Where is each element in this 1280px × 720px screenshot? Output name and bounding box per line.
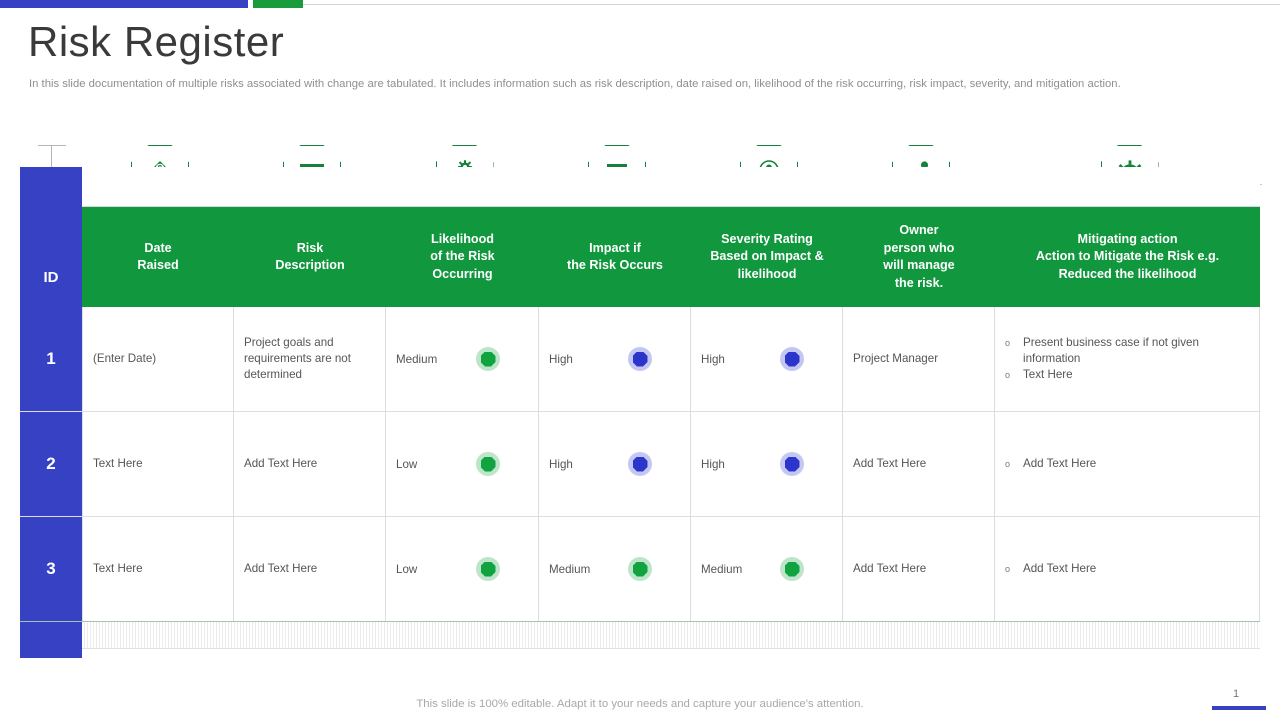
cell-severity: Medium bbox=[691, 517, 843, 621]
cell-date: Text Here bbox=[82, 412, 234, 516]
column-header-label: Impact ifthe Risk Occurs bbox=[567, 240, 663, 275]
cell-risk: Project goals and requirements are not d… bbox=[234, 307, 386, 411]
rating-label: High bbox=[701, 458, 725, 471]
table-header-row: ID DateRaisedRiskDescriptionLikelihoodof… bbox=[20, 207, 1260, 307]
rating-indicator-dot bbox=[633, 562, 648, 577]
mitigation-bullet-item: oPresent business case if not given info… bbox=[1005, 335, 1249, 367]
cell-owner: Add Text Here bbox=[843, 412, 995, 516]
column-header-risk: RiskDescription bbox=[234, 207, 386, 307]
column-header-label: Mitigating actionAction to Mitigate the … bbox=[1036, 231, 1219, 284]
accent-bar-rule bbox=[303, 4, 1280, 5]
cell-text: Add Text Here bbox=[244, 456, 317, 472]
rating-indicator-green bbox=[476, 452, 500, 476]
slide-footnote: This slide is 100% editable. Adapt it to… bbox=[0, 698, 1280, 710]
cell-text: Add Text Here bbox=[853, 561, 926, 577]
rating-indicator-blue bbox=[628, 347, 652, 371]
cell-likelihood: Low bbox=[386, 412, 539, 516]
rating-indicator-dot bbox=[785, 352, 800, 367]
cell-mitigation: oPresent business case if not given info… bbox=[995, 307, 1260, 411]
rating-indicator-green bbox=[476, 557, 500, 581]
column-header-label: Ownerperson whowill managethe risk. bbox=[883, 222, 954, 292]
top-accent-bars bbox=[0, 0, 1280, 9]
cell-owner: Project Manager bbox=[843, 307, 995, 411]
mitigation-bullet-list: oPresent business case if not given info… bbox=[1005, 335, 1249, 384]
rating-indicator-blue bbox=[628, 452, 652, 476]
rating-label: Medium bbox=[701, 563, 742, 576]
mitigation-bullet-item: oAdd Text Here bbox=[1005, 561, 1249, 578]
cell-likelihood: Medium bbox=[386, 307, 539, 411]
cell-impact: High bbox=[539, 412, 691, 516]
cell-owner: Add Text Here bbox=[843, 517, 995, 621]
column-header-label: RiskDescription bbox=[275, 240, 344, 275]
column-header-severity: Severity RatingBased on Impact &likeliho… bbox=[691, 207, 843, 307]
column-header-impact: Impact ifthe Risk Occurs bbox=[539, 207, 691, 307]
bullet-marker-icon: o bbox=[1005, 456, 1023, 473]
rating-indicator-green bbox=[780, 557, 804, 581]
rating-label: Medium bbox=[549, 563, 590, 576]
column-header-label: DateRaised bbox=[137, 240, 178, 275]
cell-text: Text Here bbox=[93, 456, 143, 472]
column-header-label: Likelihoodof the RiskOccurring bbox=[430, 231, 494, 284]
rating-indicator-green bbox=[628, 557, 652, 581]
id-column-tick bbox=[38, 145, 66, 167]
page-number-rule bbox=[1212, 706, 1266, 710]
bullet-marker-icon: o bbox=[1005, 561, 1023, 578]
rating-indicator-dot bbox=[481, 457, 496, 472]
row-id-cell: 3 bbox=[20, 517, 82, 621]
cell-likelihood: Low bbox=[386, 517, 539, 621]
cell-text: Project Manager bbox=[853, 351, 938, 367]
cell-risk: Add Text Here bbox=[234, 412, 386, 516]
bullet-text: Text Here bbox=[1023, 367, 1249, 384]
rating-label: High bbox=[549, 353, 573, 366]
table-row: 3Text HereAdd Text HereLowMediumMediumAd… bbox=[20, 517, 1260, 622]
row-id-cell: 2 bbox=[20, 412, 82, 516]
hatched-footer-band bbox=[82, 622, 1260, 649]
mitigation-bullet-item: oText Here bbox=[1005, 367, 1249, 384]
cell-severity: High bbox=[691, 412, 843, 516]
bullet-marker-icon: o bbox=[1005, 367, 1023, 384]
cell-risk: Add Text Here bbox=[234, 517, 386, 621]
bullet-text: Present business case if not given infor… bbox=[1023, 335, 1249, 367]
column-header-owner: Ownerperson whowill managethe risk. bbox=[843, 207, 995, 307]
rating-indicator-dot bbox=[633, 352, 648, 367]
bullet-text: Add Text Here bbox=[1023, 456, 1249, 473]
table-row: 2Text HereAdd Text HereLowHighHighAdd Te… bbox=[20, 412, 1260, 517]
bullet-text: Add Text Here bbox=[1023, 561, 1249, 578]
rating-indicator-blue bbox=[780, 452, 804, 476]
cell-impact: High bbox=[539, 307, 691, 411]
mitigation-bullet-item: oAdd Text Here bbox=[1005, 456, 1249, 473]
rating-indicator-blue bbox=[780, 347, 804, 371]
cell-mitigation: oAdd Text Here bbox=[995, 412, 1260, 516]
cell-text: Project goals and requirements are not d… bbox=[244, 335, 375, 383]
rating-label: Low bbox=[396, 458, 417, 471]
cell-text: Add Text Here bbox=[853, 456, 926, 472]
cell-date: (Enter Date) bbox=[82, 307, 234, 411]
rating-label: Low bbox=[396, 563, 417, 576]
bullet-marker-icon: o bbox=[1005, 335, 1023, 367]
rating-indicator-dot bbox=[481, 352, 496, 367]
cell-severity: High bbox=[691, 307, 843, 411]
rating-indicator-dot bbox=[633, 457, 648, 472]
page-title: Risk Register bbox=[28, 16, 284, 68]
prehead-spacer bbox=[82, 167, 1260, 206]
table-footer-row bbox=[20, 622, 1260, 658]
column-header-mitigation: Mitigating actionAction to Mitigate the … bbox=[995, 207, 1260, 307]
cell-text: Text Here bbox=[93, 561, 143, 577]
table-prehead-row bbox=[20, 167, 1260, 207]
table-row: 1(Enter Date)Project goals and requireme… bbox=[20, 307, 1260, 412]
mitigation-bullet-list: oAdd Text Here bbox=[1005, 561, 1249, 578]
accent-bar-green bbox=[253, 0, 303, 8]
rating-label: High bbox=[549, 458, 573, 471]
rating-indicator-green bbox=[476, 347, 500, 371]
page-number: 1 bbox=[1216, 688, 1256, 700]
rating-indicator-dot bbox=[785, 562, 800, 577]
cell-date: Text Here bbox=[82, 517, 234, 621]
rating-indicator-dot bbox=[785, 457, 800, 472]
id-footer-block bbox=[20, 622, 82, 658]
cell-text: (Enter Date) bbox=[93, 351, 156, 367]
column-header-date: DateRaised bbox=[82, 207, 234, 307]
rating-label: Medium bbox=[396, 353, 437, 366]
rating-indicator-dot bbox=[481, 562, 496, 577]
page-subtitle: In this slide documentation of multiple … bbox=[29, 76, 1214, 93]
rating-label: High bbox=[701, 353, 725, 366]
risk-register-table: ID DateRaisedRiskDescriptionLikelihoodof… bbox=[20, 167, 1260, 658]
cell-mitigation: oAdd Text Here bbox=[995, 517, 1260, 621]
mitigation-bullet-list: oAdd Text Here bbox=[1005, 456, 1249, 473]
accent-bar-blue bbox=[0, 0, 248, 8]
row-id-cell: 1 bbox=[20, 307, 82, 411]
cell-text: Add Text Here bbox=[244, 561, 317, 577]
id-prehead-block bbox=[20, 167, 82, 207]
cell-impact: Medium bbox=[539, 517, 691, 621]
column-header-label: Severity RatingBased on Impact &likeliho… bbox=[710, 231, 823, 284]
column-header-likelihood: Likelihoodof the RiskOccurring bbox=[386, 207, 539, 307]
